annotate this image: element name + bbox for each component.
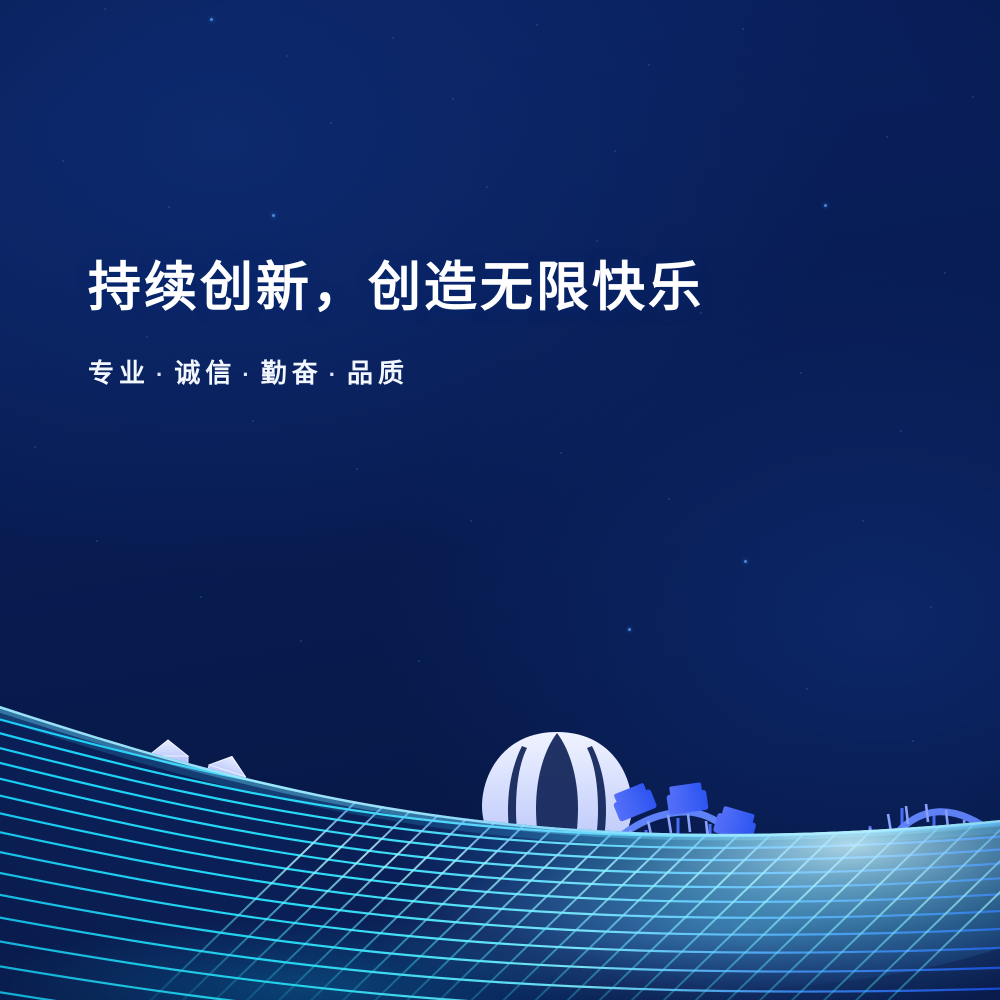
subtitle-separator: · bbox=[323, 362, 347, 387]
star-dot bbox=[972, 96, 974, 98]
page-title: 持续创新，创造无限快乐 bbox=[88, 258, 704, 317]
subtitle-word: 专业 bbox=[88, 358, 150, 388]
subtitle-word: 诚信 bbox=[174, 358, 236, 388]
star-dot bbox=[800, 372, 802, 374]
star-dot bbox=[900, 430, 902, 432]
subtitle-separator: · bbox=[150, 362, 174, 387]
star-dot bbox=[392, 37, 394, 39]
headline-block: 持续创新，创造无限快乐 专业·诚信·勤奋·品质 bbox=[88, 258, 704, 390]
star-dot bbox=[34, 446, 36, 448]
subtitle-separator: · bbox=[236, 362, 260, 387]
star-dot bbox=[648, 64, 650, 66]
glowing-mesh-wave bbox=[0, 670, 1000, 1000]
star-dot bbox=[252, 420, 254, 422]
star-dot bbox=[614, 150, 616, 152]
star-dot bbox=[168, 206, 170, 208]
star-dot bbox=[62, 160, 64, 162]
star-dot bbox=[286, 55, 288, 57]
star-dot bbox=[862, 520, 864, 522]
page-subtitle: 专业·诚信·勤奋·品质 bbox=[88, 353, 704, 390]
star-dot bbox=[272, 214, 275, 217]
star-dot bbox=[886, 136, 888, 138]
star-dot bbox=[744, 560, 747, 563]
subtitle-word: 品质 bbox=[347, 358, 409, 388]
star-dot bbox=[668, 498, 670, 500]
star-dot bbox=[96, 540, 98, 542]
star-dot bbox=[452, 98, 454, 100]
star-dot bbox=[824, 204, 827, 207]
star-dot bbox=[356, 468, 358, 470]
star-dot bbox=[944, 272, 946, 274]
star-dot bbox=[596, 240, 598, 242]
star-dot bbox=[470, 520, 472, 522]
poster-canvas: 持续创新，创造无限快乐 专业·诚信·勤奋·品质 bbox=[0, 0, 1000, 1000]
star-dot bbox=[536, 24, 538, 26]
star-dot bbox=[486, 186, 488, 188]
subtitle-word: 勤奋 bbox=[261, 358, 323, 388]
star-dot bbox=[104, 8, 106, 10]
star-dot bbox=[210, 18, 213, 21]
star-dot bbox=[742, 28, 744, 30]
star-dot bbox=[330, 122, 332, 124]
star-dot bbox=[560, 452, 562, 454]
